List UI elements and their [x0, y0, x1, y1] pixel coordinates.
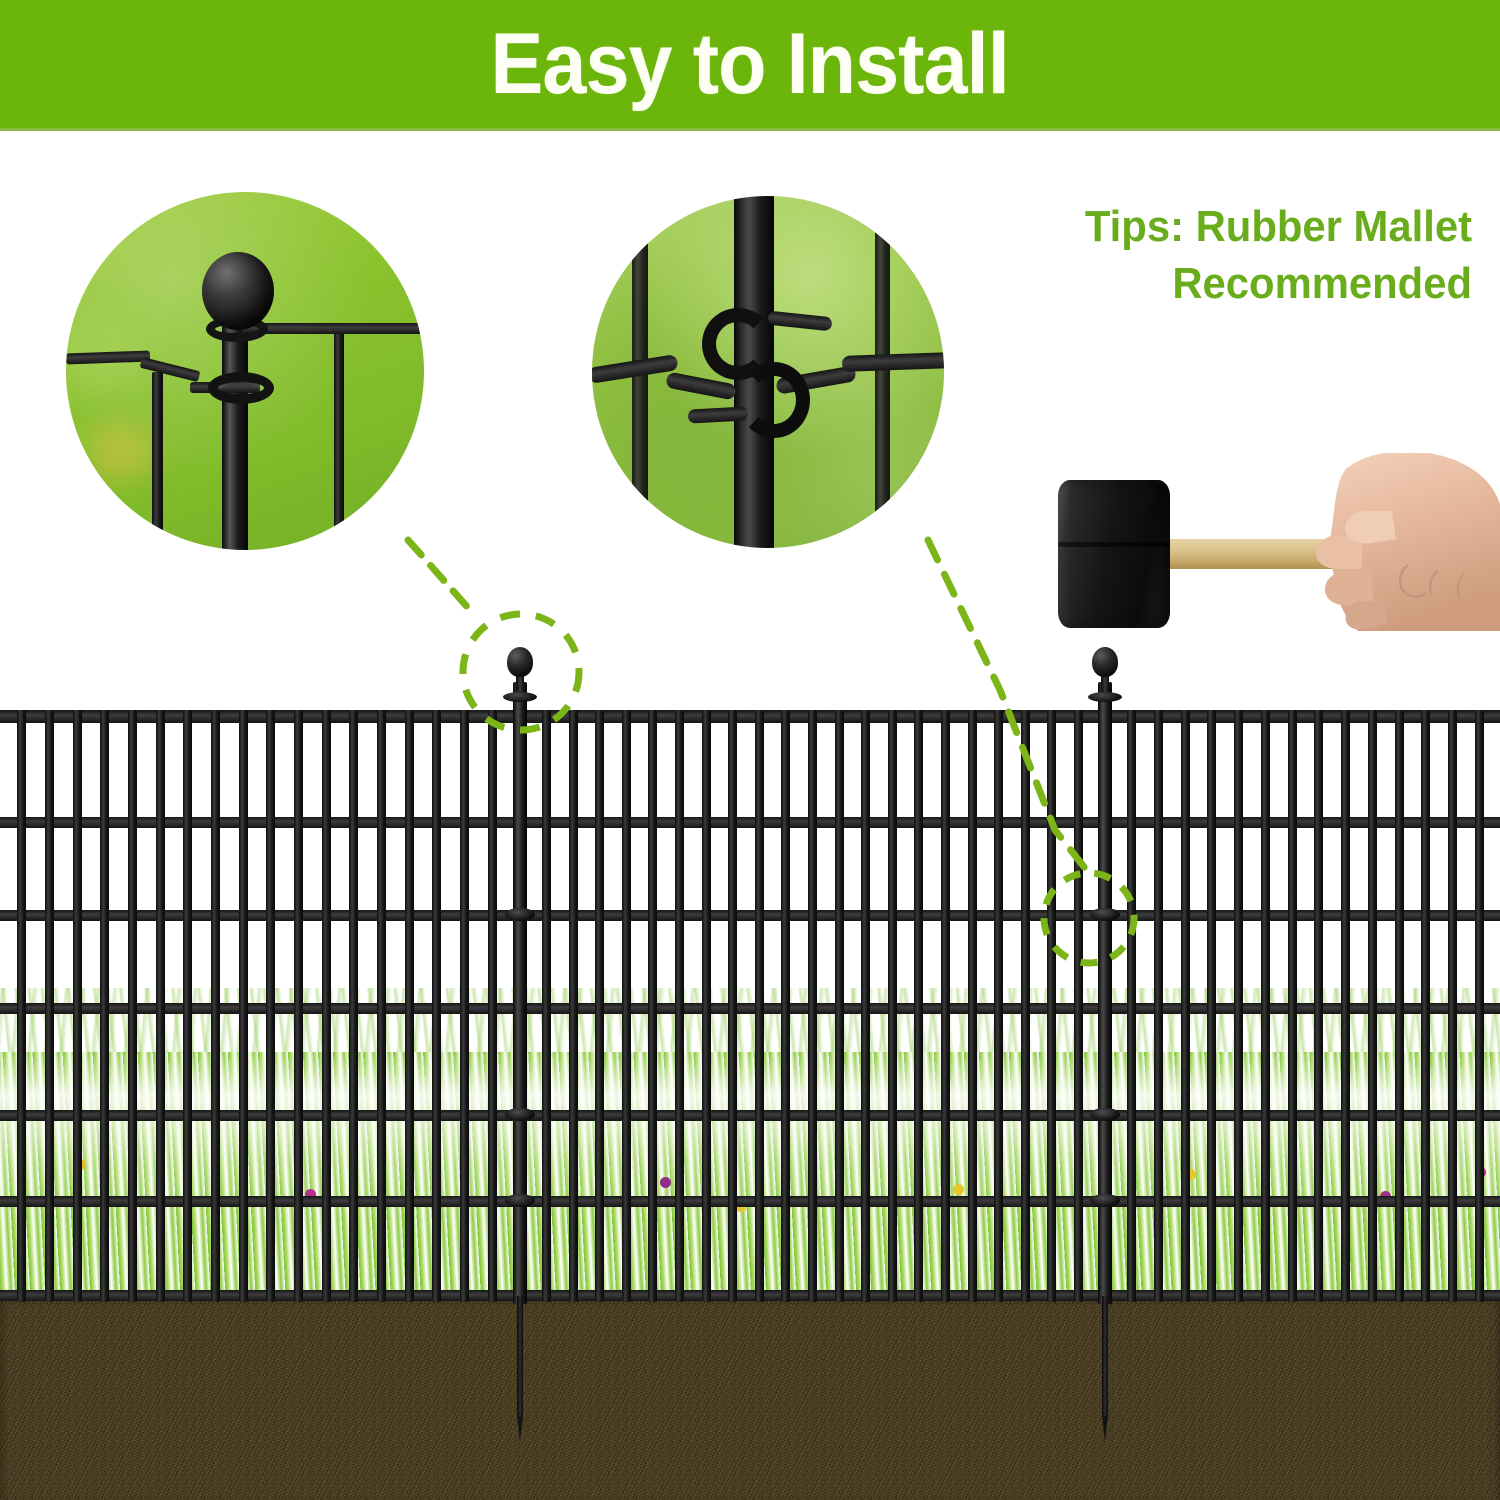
fence-picket	[1207, 710, 1216, 1302]
fence-picket	[1234, 710, 1243, 1302]
panel-connector-joint	[505, 1194, 535, 1207]
fence-rail	[1105, 910, 1500, 921]
panel-connector-joint	[1090, 908, 1120, 921]
fence-picket	[211, 710, 220, 1302]
fence-picket	[1288, 710, 1297, 1302]
fence-picket	[914, 710, 923, 1302]
fence-picket	[1181, 710, 1190, 1302]
connector-ring	[208, 372, 274, 404]
tips-lead-label: Tips:	[1085, 202, 1184, 251]
fence-rail	[1105, 817, 1500, 828]
finial-collar	[503, 692, 537, 702]
fence-picket	[100, 710, 109, 1302]
header-banner: Easy to Install	[0, 0, 1500, 131]
fence-picket	[349, 710, 358, 1302]
fence-picket	[835, 710, 844, 1302]
panel-connector-joint	[505, 908, 535, 921]
fence-picket	[1421, 710, 1430, 1302]
fence-post	[1098, 682, 1112, 1304]
fence-picket	[45, 710, 54, 1302]
fence-picket	[73, 710, 82, 1302]
panel-connector-joint	[505, 1108, 535, 1121]
leader-line-finial	[408, 540, 470, 610]
fence-picket	[377, 710, 386, 1302]
fence-picket	[334, 332, 344, 550]
fence-picket	[322, 710, 331, 1302]
page-title: Easy to Install	[491, 21, 1009, 107]
fence-post	[222, 322, 248, 550]
fence-picket	[1261, 710, 1270, 1302]
fence-picket	[432, 710, 441, 1302]
fence-picket	[755, 710, 764, 1302]
finial-collar	[1088, 692, 1122, 702]
blur-blob	[86, 422, 156, 482]
fence-picket	[1021, 710, 1030, 1302]
panel-connector-joint	[1090, 1194, 1120, 1207]
fence-picket	[1047, 710, 1056, 1302]
fence-picket	[17, 710, 26, 1302]
ball-finial-icon	[507, 647, 533, 677]
fence-post	[513, 682, 527, 1304]
ground-stake	[517, 1296, 523, 1416]
fence-rail	[242, 323, 424, 334]
fence-picket	[861, 710, 870, 1302]
s-hook-lower-loop	[738, 362, 810, 438]
fence-picket	[702, 710, 711, 1302]
fence-picket	[968, 710, 977, 1302]
mallet-head	[1058, 480, 1170, 628]
fence-rail	[1105, 1290, 1500, 1301]
callout-finial-detail	[66, 192, 424, 550]
fence-picket	[1341, 710, 1350, 1302]
fence-picket	[1127, 710, 1136, 1302]
tips-line2: Recommended	[1172, 259, 1472, 308]
fence-picket	[569, 710, 578, 1302]
fence-picket	[728, 710, 737, 1302]
fence-picket	[1154, 710, 1163, 1302]
fence-picket	[648, 710, 657, 1302]
callout-connector-detail	[592, 196, 944, 548]
tips-text: Tips: Rubber Mallet Recommended	[1026, 198, 1473, 312]
fence-rail	[1105, 1196, 1500, 1207]
fence-picket	[239, 710, 248, 1302]
fence-picket	[1074, 710, 1083, 1302]
fence-picket	[1395, 710, 1404, 1302]
fence-picket	[994, 710, 1003, 1302]
fence-picket	[128, 710, 137, 1302]
fence-rail	[1105, 1003, 1500, 1014]
fence-picket	[156, 710, 165, 1302]
fence-picket	[941, 710, 950, 1302]
fence-picket	[808, 710, 817, 1302]
fence-scene	[0, 645, 1500, 1500]
fence-picket	[622, 710, 631, 1302]
fence-rail	[1105, 710, 1500, 723]
fence-picket	[488, 710, 497, 1302]
fence-picket	[266, 710, 275, 1302]
fence-picket	[595, 710, 604, 1302]
fence-picket	[542, 710, 551, 1302]
fence-picket	[294, 710, 303, 1302]
hand-holding-mallet	[1288, 453, 1500, 631]
rubber-mallet-with-hand	[1040, 455, 1500, 665]
ball-finial-icon	[1092, 647, 1118, 677]
product-infographic: Easy to Install Tips: Rubber Mallet Reco…	[0, 0, 1500, 1500]
fence-picket	[460, 710, 469, 1302]
fence-picket	[675, 710, 684, 1302]
fence-picket	[152, 372, 163, 550]
fence-picket	[183, 710, 192, 1302]
fence-picket	[1314, 710, 1323, 1302]
ground-stake	[1102, 1296, 1108, 1416]
fence-picket	[888, 710, 897, 1302]
fence-picket	[781, 710, 790, 1302]
tips-line1-rest: Rubber Mallet	[1184, 202, 1472, 251]
fence-picket	[1448, 710, 1457, 1302]
panel-connector-joint	[1090, 1108, 1120, 1121]
fence-picket	[405, 710, 414, 1302]
fence-picket	[1368, 710, 1377, 1302]
ball-finial-icon	[202, 252, 274, 330]
background-picket	[875, 226, 890, 516]
fence-picket	[1475, 710, 1484, 1302]
fence-rail	[1105, 1110, 1500, 1121]
fence-grid	[0, 645, 1500, 1500]
